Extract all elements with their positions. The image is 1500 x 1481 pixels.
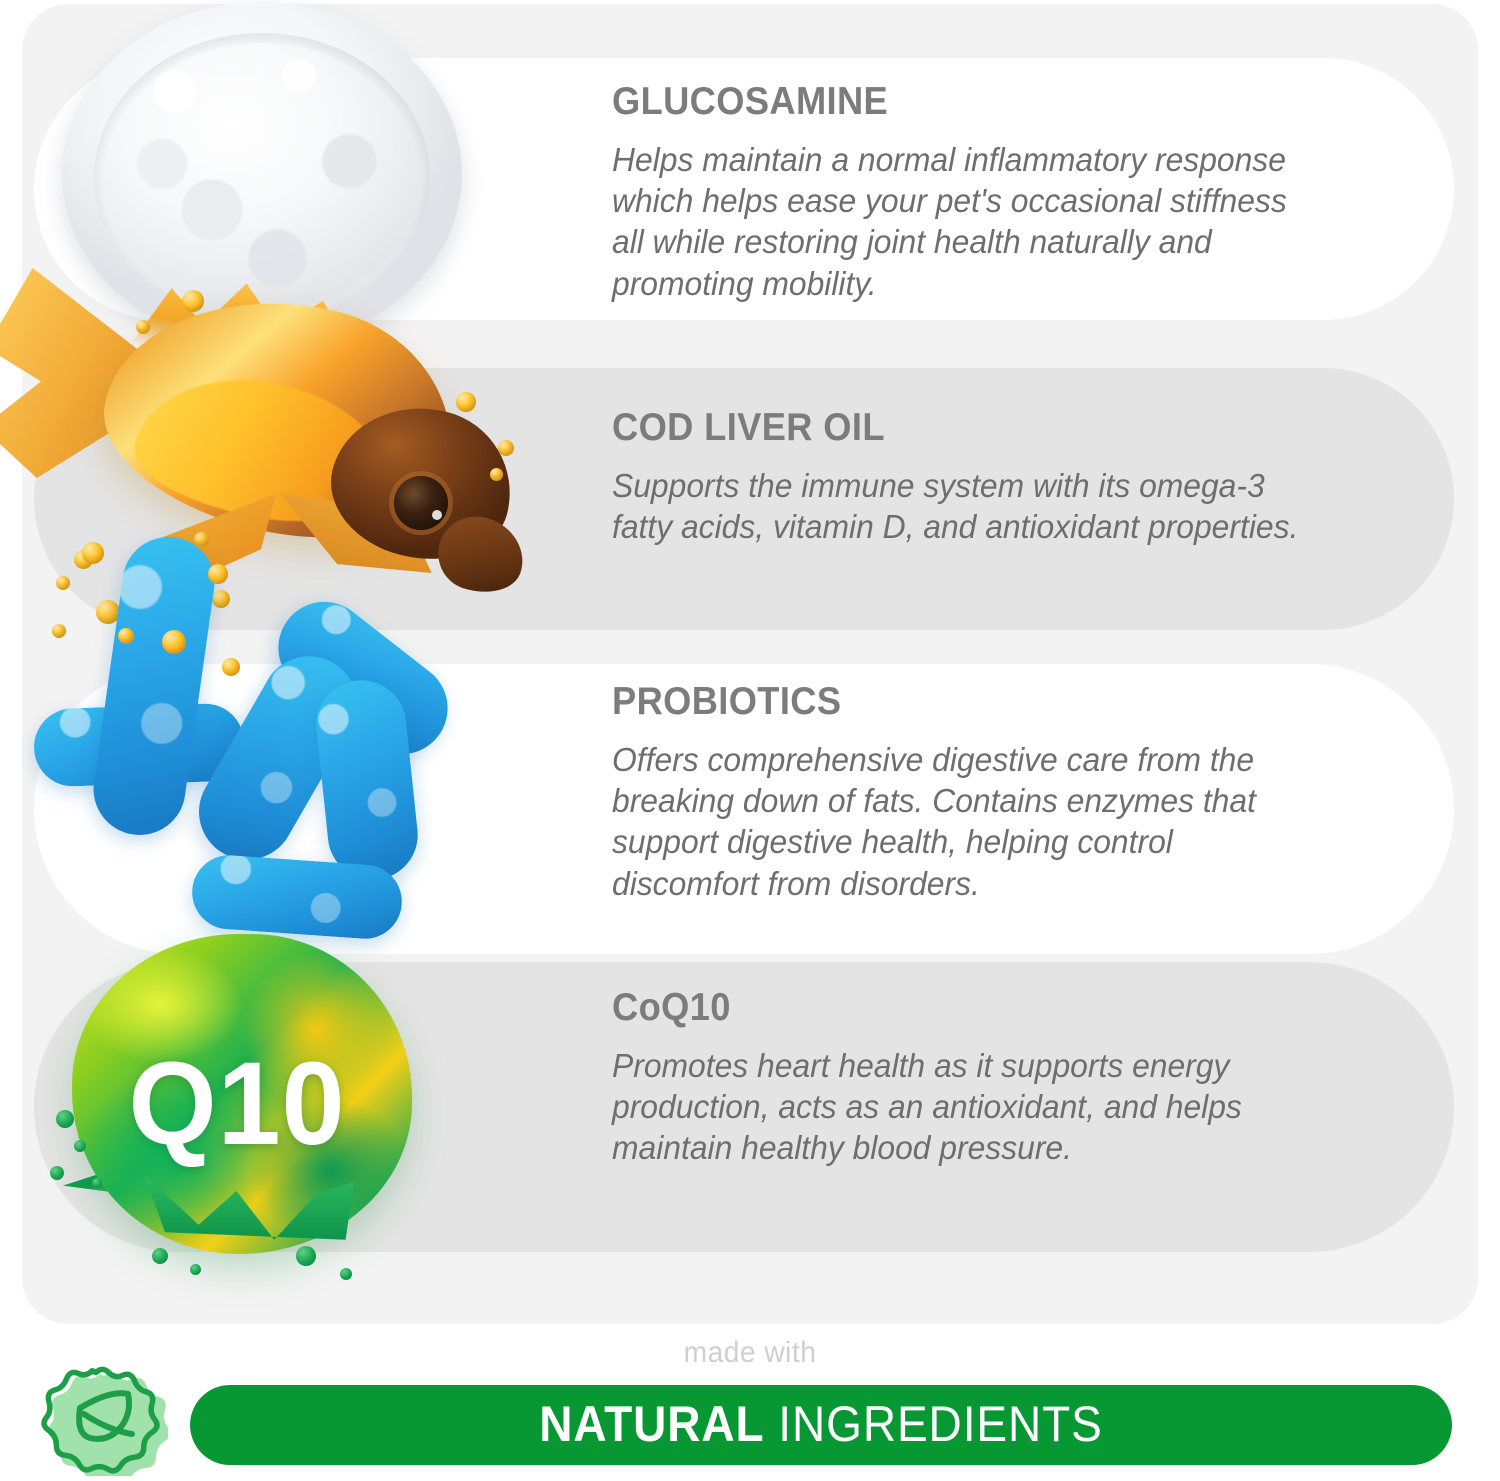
natural-ingredients-label: NATURAL INGREDIENTS (240, 1385, 1401, 1465)
made-with-label: made with (45, 1336, 1455, 1370)
ingredient-card-text: PROBIOTICS Offers comprehensive digestiv… (612, 680, 1358, 905)
banner-bold-word: NATURAL (539, 1396, 764, 1452)
ingredient-description: Helps maintain a normal inflammatory res… (612, 140, 1321, 305)
ingredient-description: Offers comprehensive digestive care from… (612, 740, 1321, 905)
ingredient-card-text: CoQ10 Promotes heart health as it suppor… (612, 986, 1358, 1170)
ingredient-description: Supports the immune system with its omeg… (612, 466, 1321, 548)
ingredient-description: Promotes heart health as it supports ene… (612, 1046, 1321, 1170)
natural-ingredients-banner: NATURAL INGREDIENTS (190, 1385, 1452, 1465)
leaf-badge-icon (40, 1358, 168, 1476)
ingredient-card-text: COD LIVER OIL Supports the immune system… (612, 406, 1358, 548)
ingredient-title: PROBIOTICS (612, 680, 1306, 724)
ingredient-title: CoQ10 (612, 986, 1306, 1030)
banner-light-word: INGREDIENTS (778, 1396, 1102, 1452)
ingredient-card-coq10: CoQ10 Promotes heart health as it suppor… (34, 962, 1454, 1252)
ingredient-title: GLUCOSAMINE (612, 80, 1306, 124)
ingredient-title: COD LIVER OIL (612, 406, 1306, 450)
ingredient-card-glucosamine: GLUCOSAMINE Helps maintain a normal infl… (34, 58, 1454, 320)
ingredient-card-text: GLUCOSAMINE Helps maintain a normal infl… (612, 80, 1358, 305)
ingredient-card-probiotics: PROBIOTICS Offers comprehensive digestiv… (34, 664, 1454, 954)
ingredient-infographic: GLUCOSAMINE Helps maintain a normal infl… (0, 0, 1500, 1478)
ingredient-card-cod-liver-oil: COD LIVER OIL Supports the immune system… (34, 368, 1454, 630)
